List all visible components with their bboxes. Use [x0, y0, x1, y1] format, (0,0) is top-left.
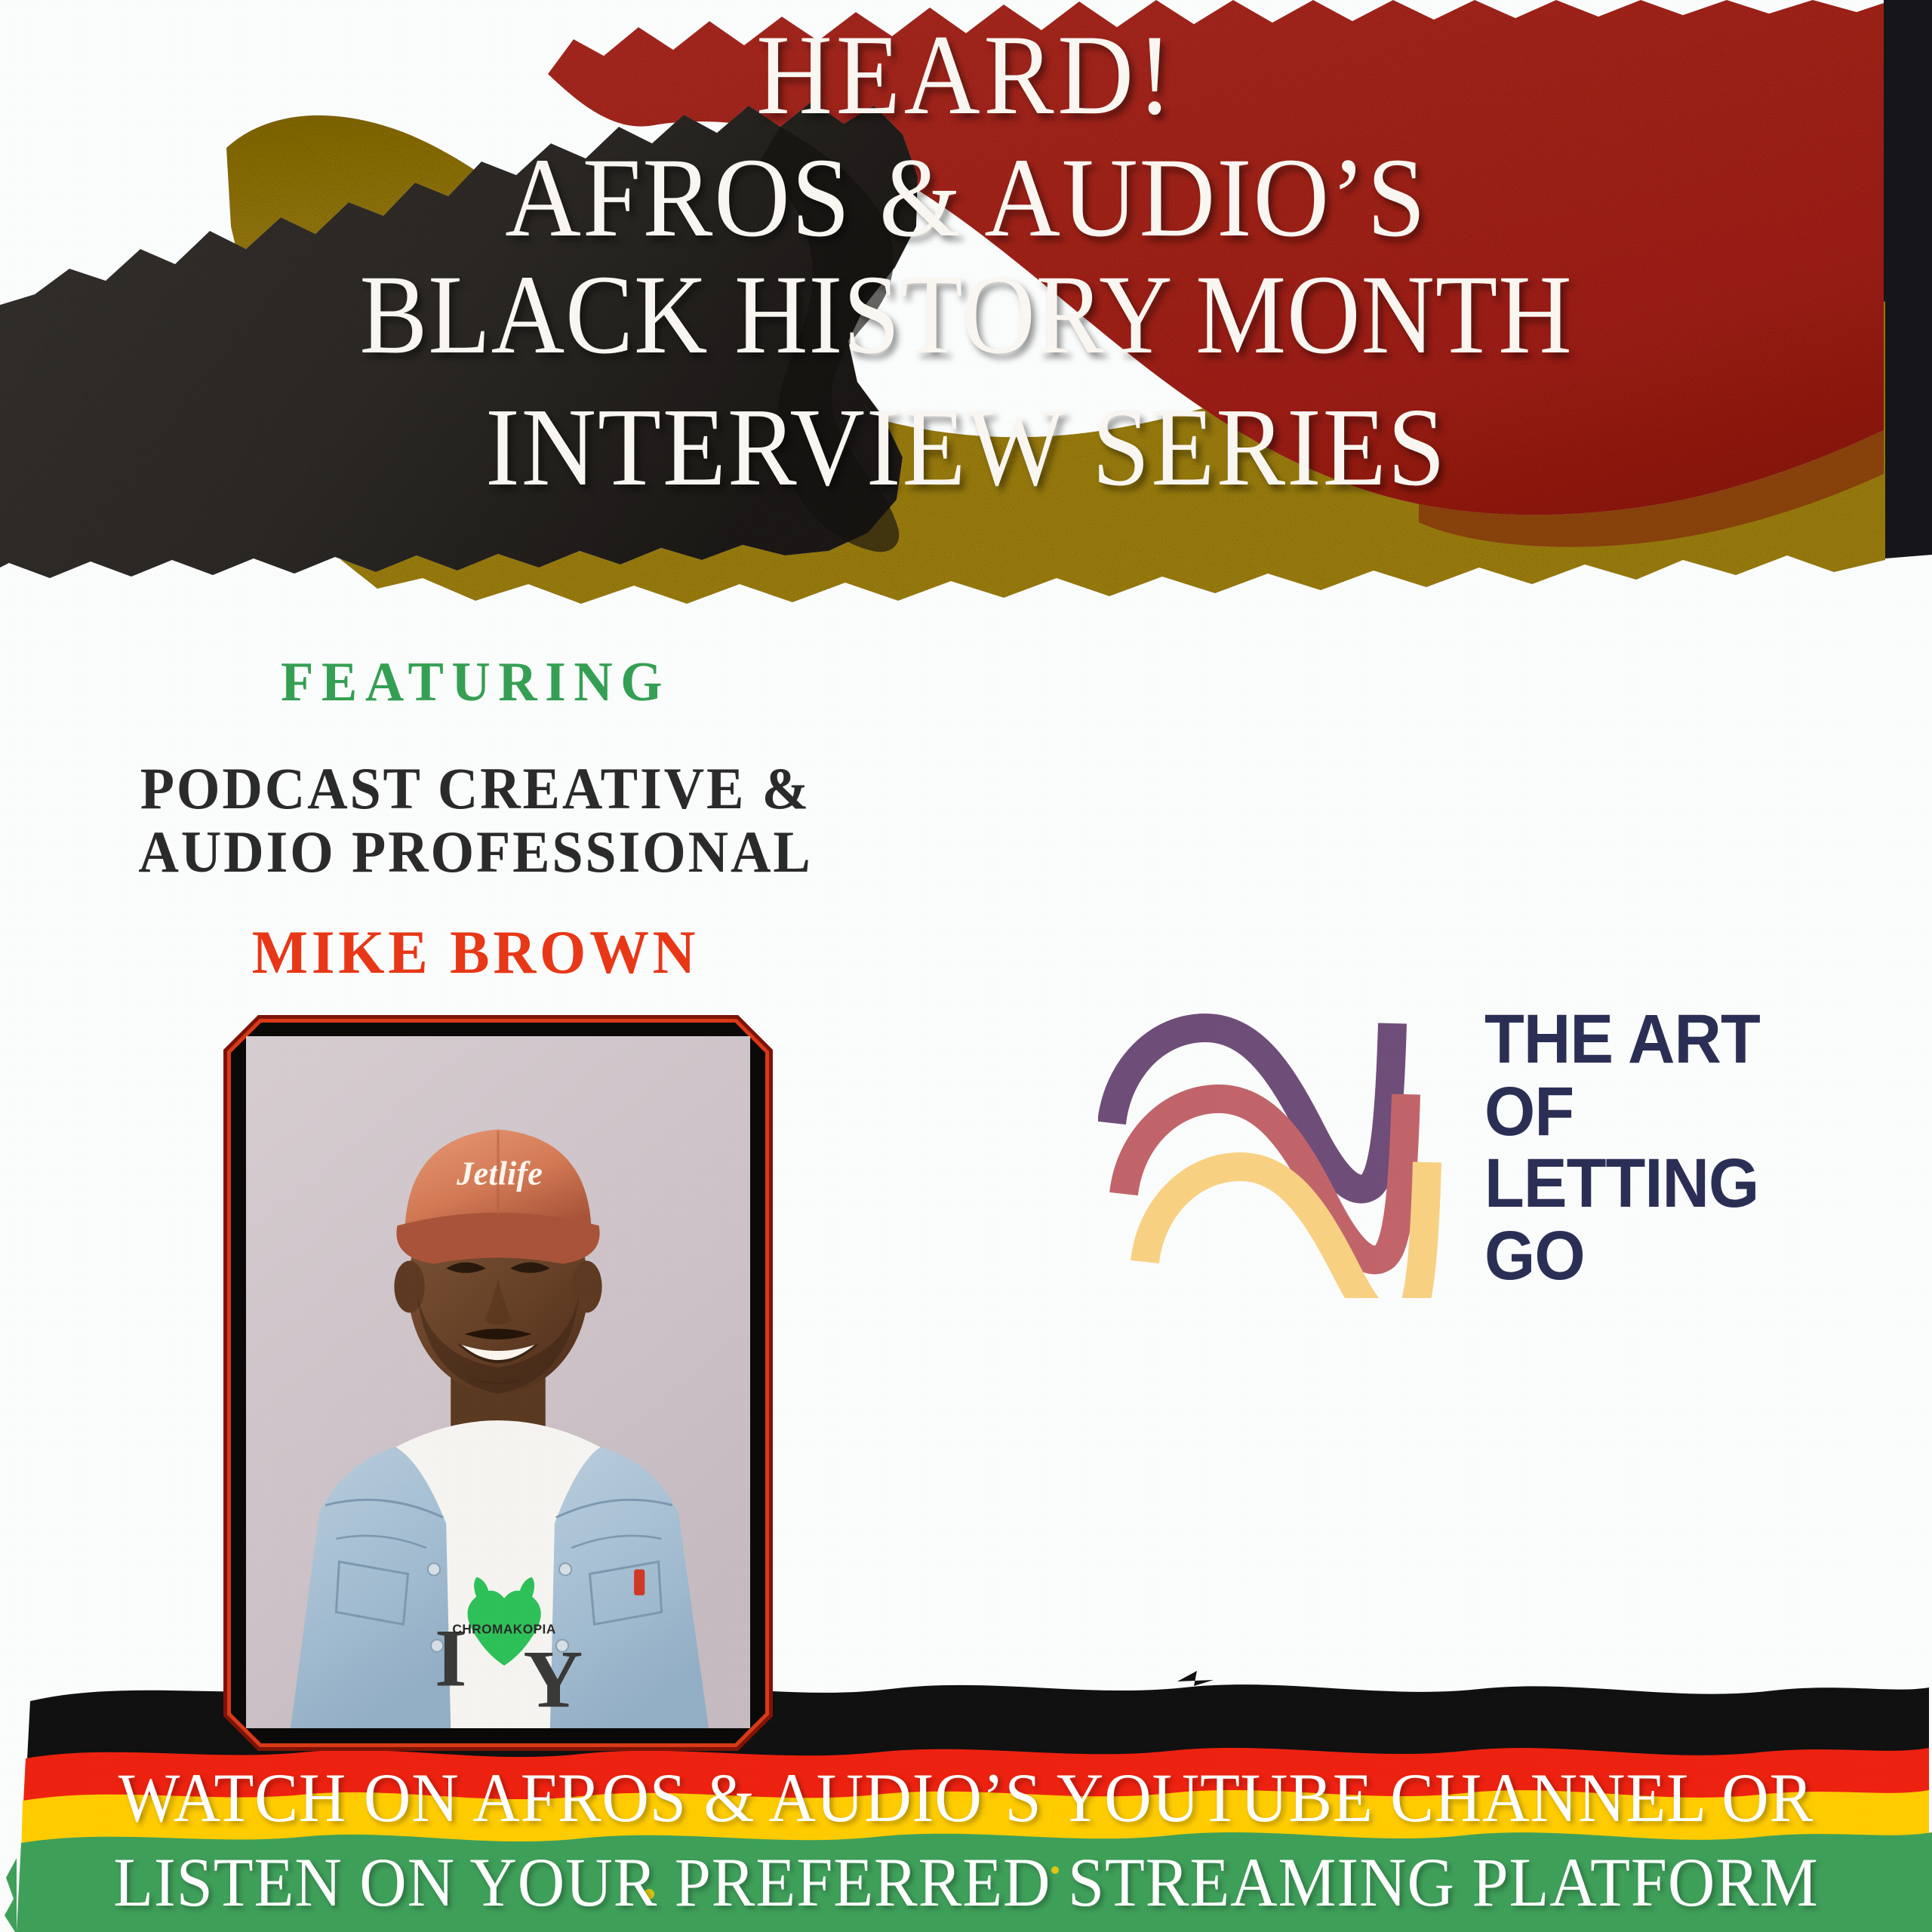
guest-role-line-1: PODCAST CREATIVE &: [53, 757, 899, 820]
headline-block: HEARD! AFROS & AUDIO’S BLACK HISTORY MON…: [0, 17, 1932, 506]
guest-role-line-2: AUDIO PROFESSIONAL: [53, 820, 899, 884]
headline-line-3: BLACK HISTORY MONTH: [97, 257, 1835, 374]
poster-canvas: HEARD! AFROS & AUDIO’S BLACK HISTORY MON…: [0, 0, 1932, 1932]
svg-text:Y: Y: [523, 1634, 583, 1725]
headline-line-2: AFROS & AUDIO’S: [68, 140, 1865, 257]
headline-line-1: HEARD!: [77, 17, 1854, 134]
featuring-label: FEATURING: [48, 651, 903, 715]
featuring-block: FEATURING PODCAST CREATIVE & AUDIO PROFE…: [30, 651, 921, 988]
guest-portrait-frame: I CHROMAKOPIA Y: [223, 1015, 773, 1751]
logo-line-3: LETTING: [1484, 1148, 1760, 1220]
guest-photo: I CHROMAKOPIA Y: [246, 1036, 750, 1728]
logo-line-4: GO: [1484, 1220, 1760, 1293]
logo-line-1: THE ART: [1484, 1004, 1760, 1076]
headline-line-4: INTERVIEW SERIES: [68, 389, 1865, 506]
guest-name: MIKE BROWN: [48, 917, 903, 988]
logo-wordmark: THE ART OF LETTING GO: [1484, 996, 1760, 1293]
nested-wave-mark-icon: [1098, 996, 1453, 1298]
banner-cta-text: WATCH ON AFROS & AUDIO’S YOUTUBE CHANNEL…: [0, 1755, 1932, 1924]
logo-line-2: OF: [1484, 1076, 1760, 1149]
the-art-of-letting-go-logo: THE ART OF LETTING GO: [1098, 996, 1823, 1313]
cap-script-label: Jetlife: [456, 1154, 543, 1192]
banner-line-2: LISTEN ON YOUR PREFERRED STREAMING PLATF…: [58, 1840, 1874, 1924]
banner-line-1: WATCH ON AFROS & AUDIO’S YOUTUBE CHANNEL…: [58, 1755, 1874, 1840]
